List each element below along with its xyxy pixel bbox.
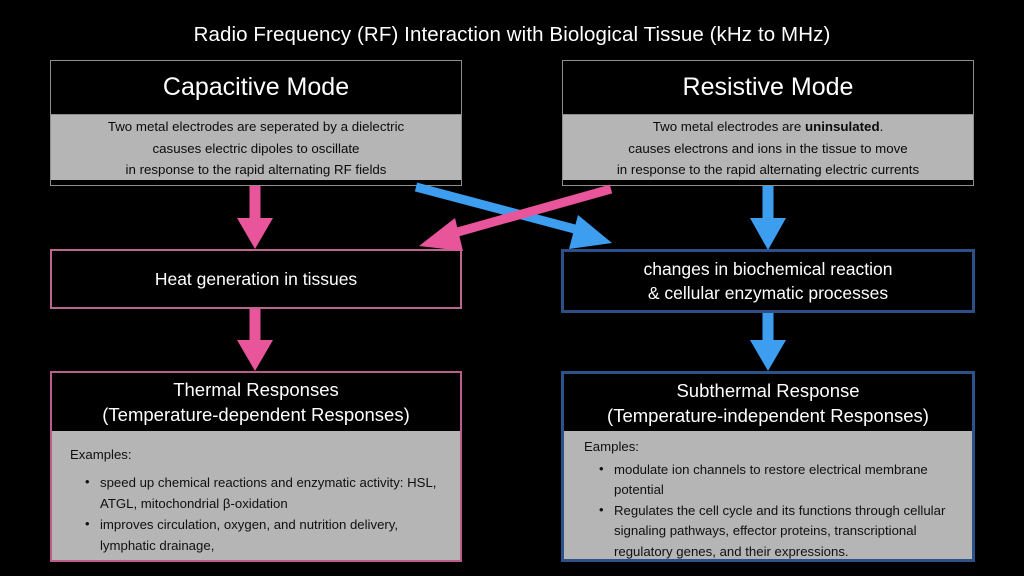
card-resistive-mode: Resistive Mode Two metal electrodes are …: [562, 60, 974, 186]
resistive-desc-prefix: Two metal electrodes are: [653, 119, 805, 134]
subthermal-title-line-1: Subthermal Response: [676, 378, 859, 403]
capacitive-mode-header: Capacitive Mode: [51, 61, 461, 115]
capacitive-desc-line-3: in response to the rapid alternating RF …: [126, 159, 387, 181]
thermal-title-line-1: Thermal Responses: [173, 377, 339, 402]
heat-generation-label: Heat generation in tissues: [155, 267, 357, 291]
subthermal-examples-label: Eamples:: [584, 437, 960, 460]
card-subthermal-response: Subthermal Response (Temperature-indepen…: [561, 371, 975, 562]
thermal-responses-header: Thermal Responses (Temperature-dependent…: [52, 373, 460, 431]
resistive-desc-line-1: Two metal electrodes are uninsulated.: [653, 116, 884, 138]
thermal-examples-label: Examples:: [70, 444, 446, 467]
subthermal-title-line-2: (Temperature-independent Responses): [607, 403, 929, 428]
arrow-capacitive-to-biochemical-icon: [416, 187, 612, 249]
biochemical-line-2: & cellular enzymatic processes: [648, 281, 888, 305]
arrow-resistive-to-heat-icon: [419, 189, 611, 251]
arrow-biochemical-to-subthermal-icon: [750, 313, 786, 371]
resistive-mode-description: Two metal electrodes are uninsulated. ca…: [563, 115, 973, 180]
card-capacitive-mode: Capacitive Mode Two metal electrodes are…: [50, 60, 462, 186]
subthermal-response-body: Eamples: modulate ion channels to restor…: [564, 431, 972, 559]
arrow-heat-to-thermal-icon: [237, 309, 273, 371]
diagram-canvas: Radio Frequency (RF) Interaction with Bi…: [0, 0, 1024, 576]
list-item: speed up chemical reactions and enzymati…: [100, 472, 446, 514]
capacitive-mode-description: Two metal electrodes are seperated by a …: [51, 115, 461, 180]
capacitive-desc-line-2: casuses electric dipoles to oscillate: [153, 138, 360, 160]
subthermal-examples-list: modulate ion channels to restore electri…: [584, 460, 960, 563]
list-item: modulate ion channels to restore electri…: [614, 460, 960, 501]
resistive-mode-title: Resistive Mode: [683, 73, 854, 102]
thermal-title-line-2: (Temperature-dependent Responses): [102, 402, 409, 427]
list-item: Regulates the cell cycle and its functio…: [614, 501, 960, 563]
capacitive-desc-line-1: Two metal electrodes are seperated by a …: [108, 116, 404, 138]
arrow-resistive-to-biochemical-icon: [750, 186, 786, 250]
card-biochemical-changes: changes in biochemical reaction & cellul…: [561, 249, 975, 313]
resistive-mode-header: Resistive Mode: [563, 61, 973, 115]
capacitive-mode-title: Capacitive Mode: [163, 73, 349, 102]
biochemical-line-1: changes in biochemical reaction: [643, 257, 892, 281]
subthermal-response-header: Subthermal Response (Temperature-indepen…: [564, 374, 972, 431]
resistive-desc-suffix: .: [880, 119, 884, 134]
thermal-examples-list: speed up chemical reactions and enzymati…: [70, 472, 446, 556]
page-title: Radio Frequency (RF) Interaction with Bi…: [0, 23, 1024, 47]
thermal-responses-body: Examples: speed up chemical reactions an…: [52, 431, 460, 560]
resistive-desc-line-2: causes electrons and ions in the tissue …: [628, 138, 907, 160]
card-heat-generation: Heat generation in tissues: [50, 249, 462, 309]
list-item: improves circulation, oxygen, and nutrit…: [100, 514, 446, 556]
resistive-desc-bold: uninsulated: [805, 119, 880, 134]
resistive-desc-line-3: in response to the rapid alternating ele…: [617, 159, 919, 181]
arrow-capacitive-to-heat-icon: [237, 186, 273, 249]
card-thermal-responses: Thermal Responses (Temperature-dependent…: [50, 371, 462, 562]
